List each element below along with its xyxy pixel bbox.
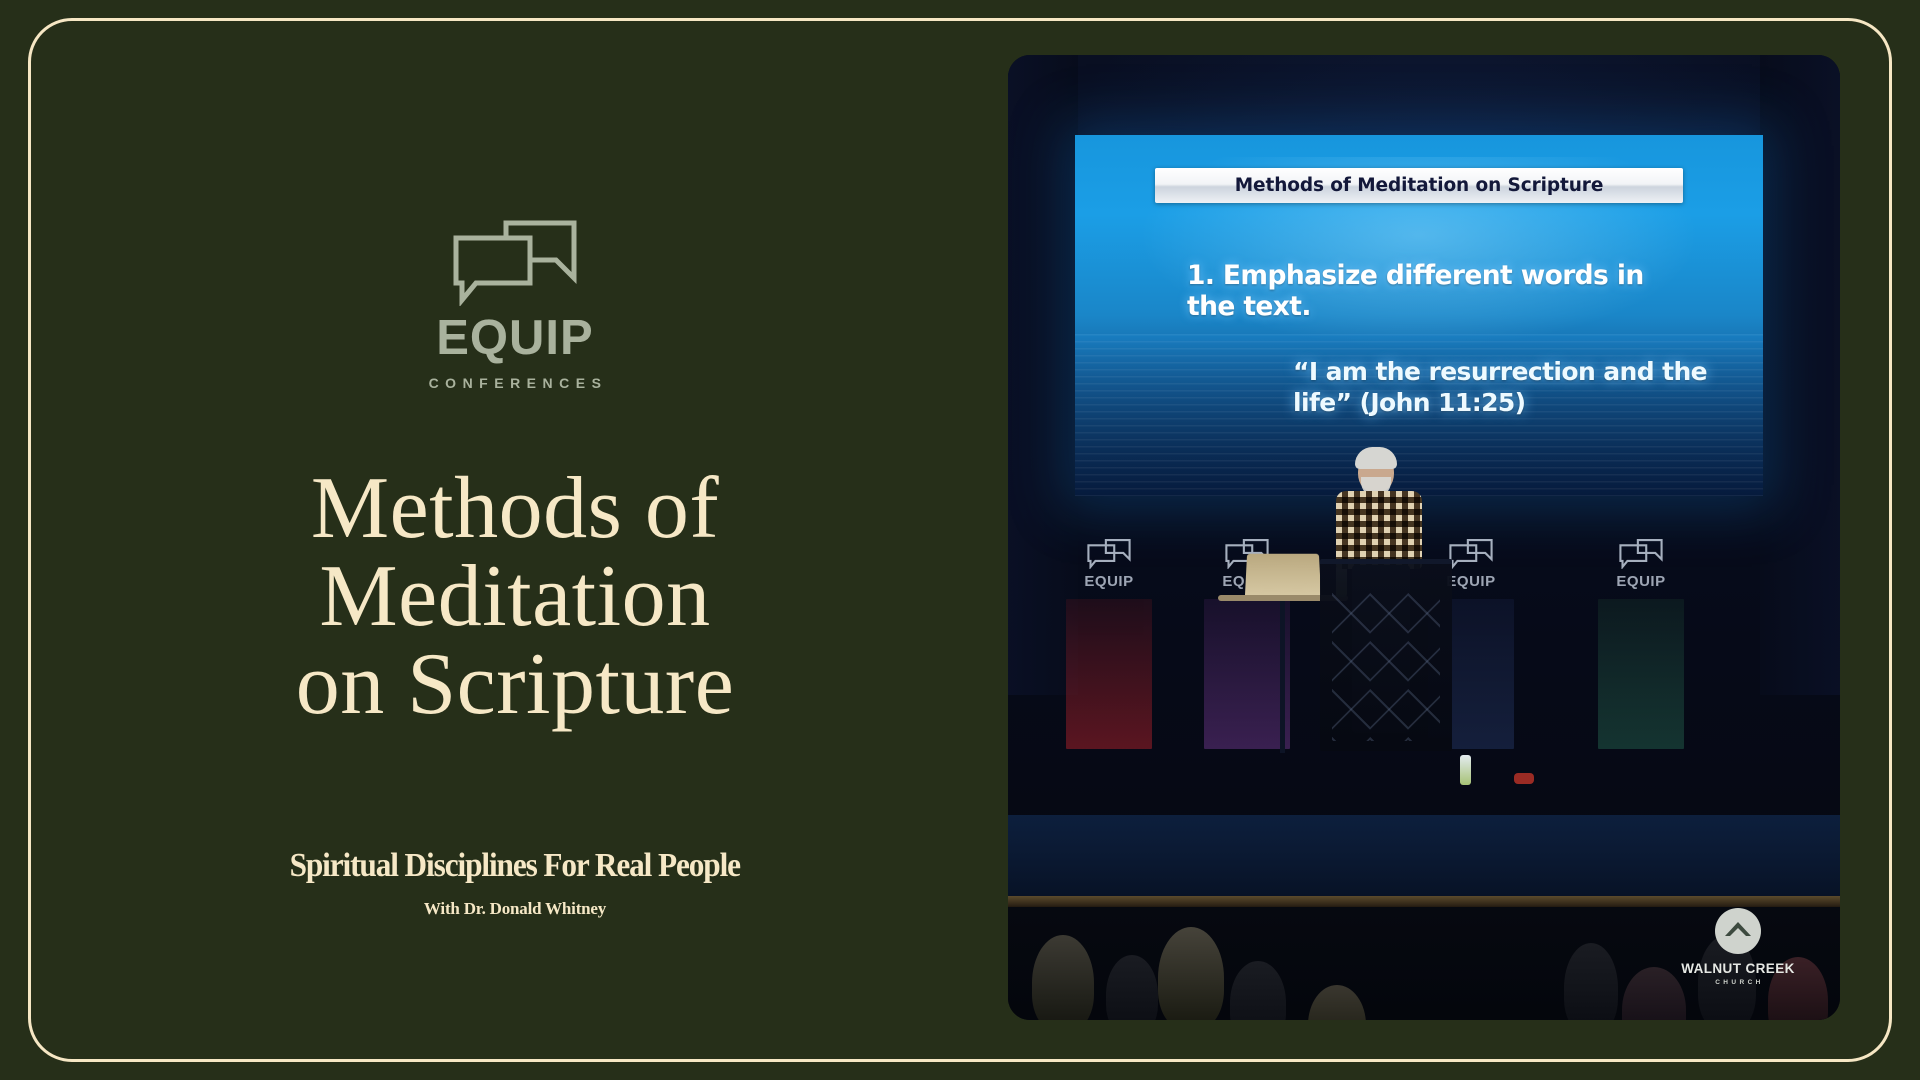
watermark-church-name: WALNUT CREEK — [1681, 961, 1795, 976]
equip-banner: EQUIP — [1204, 517, 1290, 749]
series-subtitle: Spiritual Disciplines For Real People — [290, 847, 740, 885]
stage-wall-right — [1760, 55, 1840, 695]
slide-header-banner: Methods of Meditation on Scripture — [1155, 168, 1683, 203]
stage-red-object — [1514, 773, 1534, 784]
speech-bubbles-icon — [1619, 539, 1663, 569]
equip-tagline: CONFERENCES — [423, 375, 608, 391]
speaker-byline: With Dr. Donald Whitney — [424, 899, 606, 919]
slide-quote-text: “I am the resurrection and the life” (Jo… — [1293, 357, 1743, 418]
title-column: EQUIP CONFERENCES Methods of Meditation … — [40, 20, 990, 1060]
speaker-figure — [1330, 451, 1450, 751]
stage-water-bottle — [1460, 755, 1471, 785]
speaker-hair — [1355, 447, 1397, 469]
speech-bubbles-icon — [1087, 539, 1131, 569]
banner-label: EQUIP — [1066, 573, 1152, 590]
title-line-2: on Scripture — [296, 636, 735, 733]
conference-stage-photo: Methods of Meditation on Scripture 1. Em… — [1008, 55, 1840, 1020]
watermark-church-sub: CHURCH — [1712, 979, 1764, 986]
banner-label: EQUIP — [1598, 573, 1684, 590]
slide-header-text: Methods of Meditation on Scripture — [1235, 175, 1604, 196]
banner-body — [1204, 599, 1290, 749]
banner-body — [1066, 599, 1152, 749]
side-table-leg — [1280, 601, 1285, 753]
audience-silhouette — [1032, 935, 1094, 1020]
podium — [1320, 559, 1452, 751]
equip-brand-lockup: EQUIP CONFERENCES — [423, 220, 608, 391]
equip-banner: EQUIP — [1598, 517, 1684, 749]
speech-bubbles-icon — [1449, 539, 1493, 569]
page-title: Methods of Meditation on Scripture — [105, 465, 925, 729]
title-line-1: Methods of Meditation — [311, 460, 719, 645]
chevron-up-icon — [1715, 908, 1761, 954]
stage-floor — [1008, 815, 1840, 903]
projection-screen: Methods of Meditation on Scripture 1. Em… — [1075, 135, 1763, 496]
equip-wordmark: EQUIP — [436, 314, 593, 363]
equip-banner: EQUIP — [1066, 517, 1152, 749]
audience-silhouette — [1158, 927, 1224, 1020]
slide-point-text: 1. Emphasize different words in the text… — [1187, 260, 1657, 323]
banner-body — [1598, 599, 1684, 749]
speaker-torso — [1336, 491, 1422, 569]
speech-bubbles-icon — [452, 220, 578, 306]
laptop-prop — [1245, 554, 1321, 598]
walnut-creek-church-watermark: WALNUT CREEK CHURCH — [1674, 908, 1802, 986]
